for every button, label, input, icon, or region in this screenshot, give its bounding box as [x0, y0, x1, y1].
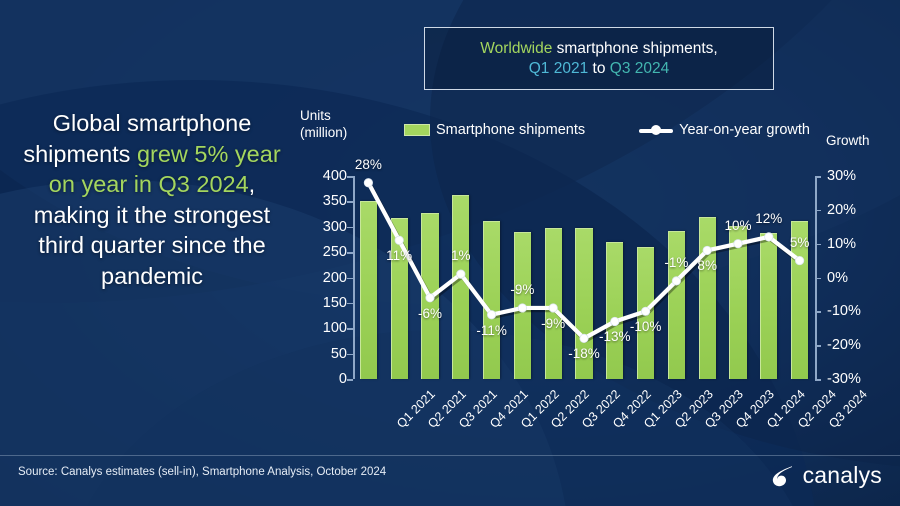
- growth-line-marker[interactable]: [580, 334, 588, 342]
- growth-data-label: 11%: [386, 248, 412, 263]
- growth-data-label: -1%: [664, 255, 688, 270]
- right-axis-tick-label: 20%: [827, 202, 856, 218]
- growth-line-marker[interactable]: [641, 307, 649, 315]
- text-run: Q3 2024: [610, 60, 669, 77]
- footer-divider: [0, 455, 900, 456]
- growth-line-marker[interactable]: [457, 270, 465, 278]
- growth-data-label: 28%: [355, 157, 382, 172]
- plot-area: 050100150200250300350400 -30%-20%-10%0%1…: [353, 176, 815, 379]
- headline-text: Global smartphone shipments grew 5% year…: [14, 108, 290, 291]
- growth-line-marker[interactable]: [518, 304, 526, 312]
- right-axis-tick: [815, 244, 821, 246]
- right-axis-tick: [815, 176, 821, 178]
- growth-line-marker[interactable]: [795, 256, 803, 264]
- right-axis-tick-label: 0%: [827, 270, 848, 286]
- chart-title-line-2: Q1 2021 to Q3 2024: [529, 59, 669, 79]
- text-run: to: [588, 60, 610, 77]
- right-axis-tick-label: 10%: [827, 236, 856, 252]
- text-run: Q1 2021: [529, 60, 588, 77]
- text-run: smartphone shipments,: [552, 40, 717, 57]
- growth-data-label: -18%: [568, 346, 600, 361]
- legend-bar-swatch-icon: [404, 124, 430, 136]
- growth-data-label: 12%: [755, 211, 782, 226]
- growth-data-label: -9%: [541, 316, 565, 331]
- slide-canvas: Worldwide smartphone shipments, Q1 2021 …: [0, 0, 900, 506]
- canalys-wordmark: canalys: [803, 462, 882, 489]
- growth-line-marker[interactable]: [672, 277, 680, 285]
- growth-data-label: -6%: [418, 306, 442, 321]
- chart-title-box: Worldwide smartphone shipments, Q1 2021 …: [424, 27, 774, 90]
- right-axis-title: Growth: [826, 133, 870, 150]
- growth-line-marker[interactable]: [395, 236, 403, 244]
- left-axis-tick: [347, 379, 353, 381]
- left-axis-tick-label: 400: [323, 168, 347, 184]
- right-axis-tick-label: -30%: [827, 371, 861, 387]
- legend-label-shipments: Smartphone shipments: [436, 122, 585, 138]
- left-axis-title: Units (million): [300, 108, 347, 142]
- chart-legend: Smartphone shipments Year-on-year growth: [404, 122, 810, 138]
- left-axis-title-line1: Units: [300, 108, 347, 125]
- canalys-logo: canalys: [770, 462, 882, 489]
- source-note: Source: Canalys estimates (sell-in), Sma…: [18, 466, 386, 478]
- chart-area: Units (million) Growth Smartphone shipme…: [296, 100, 892, 460]
- left-axis-tick-label: 100: [323, 320, 347, 336]
- left-axis-tick-label: 0: [339, 371, 347, 387]
- left-axis-tick-label: 250: [323, 244, 347, 260]
- left-axis-tick-label: 50: [331, 346, 347, 362]
- legend-line-marker-icon: [639, 125, 673, 135]
- left-axis-title-line2: (million): [300, 125, 347, 142]
- growth-data-label: 5%: [790, 235, 810, 250]
- growth-data-label: -9%: [510, 282, 534, 297]
- growth-line-marker[interactable]: [611, 317, 619, 325]
- growth-line-marker[interactable]: [734, 239, 742, 247]
- growth-data-label: 8%: [697, 258, 717, 273]
- right-axis-tick: [815, 311, 821, 313]
- right-axis-tick: [815, 345, 821, 347]
- left-axis-tick-label: 150: [323, 295, 347, 311]
- growth-line-marker[interactable]: [364, 179, 372, 187]
- growth-line-marker[interactable]: [549, 304, 557, 312]
- growth-data-label: -11%: [476, 323, 507, 338]
- growth-data-label: -13%: [599, 329, 631, 344]
- growth-data-label: 10%: [724, 218, 751, 233]
- text-run: Worldwide: [480, 40, 552, 57]
- legend-label-growth: Year-on-year growth: [679, 122, 810, 138]
- left-axis-tick-label: 300: [323, 219, 347, 235]
- right-axis-tick-label: -20%: [827, 337, 861, 353]
- right-axis-tick: [815, 210, 821, 212]
- growth-line-marker[interactable]: [765, 233, 773, 241]
- growth-data-label: -10%: [630, 319, 662, 334]
- growth-line-marker[interactable]: [487, 311, 495, 319]
- canalys-mark-icon: [770, 463, 796, 489]
- legend-item-shipments[interactable]: Smartphone shipments: [404, 122, 585, 138]
- legend-item-growth[interactable]: Year-on-year growth: [639, 122, 810, 138]
- growth-data-label: 1%: [451, 248, 471, 263]
- left-axis-tick-label: 200: [323, 270, 347, 286]
- chart-title-line-1: Worldwide smartphone shipments,: [480, 39, 718, 59]
- growth-line-marker[interactable]: [426, 294, 434, 302]
- right-axis-tick-label: -10%: [827, 303, 861, 319]
- growth-line-marker[interactable]: [703, 246, 711, 254]
- right-axis-tick-label: 30%: [827, 168, 856, 184]
- right-axis-tick: [815, 379, 821, 381]
- left-axis-tick-label: 350: [323, 193, 347, 209]
- right-axis-tick: [815, 278, 821, 280]
